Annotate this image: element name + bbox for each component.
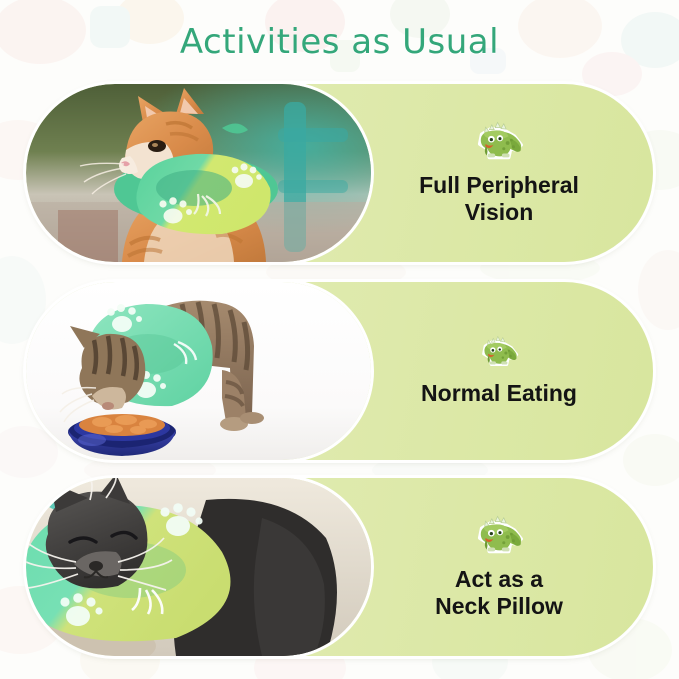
photo-cat-eating-from-bowl [26, 282, 371, 460]
infographic-stage: Activities as Usual [0, 0, 679, 679]
feature-caption-1: Full Peripheral Vision [419, 172, 579, 226]
triceratops-dinosaur-icon [470, 514, 528, 560]
feature-info-3: Act as a Neck Pillow [371, 478, 653, 656]
feature-info-1: Full Peripheral Vision [371, 84, 653, 262]
feature-caption-3: Act as a Neck Pillow [435, 566, 563, 620]
page-title: Activities as Usual [0, 22, 679, 62]
photo-gray-cat-sleeping-on-collar [26, 478, 371, 656]
feature-panel-act-as-a-neck-pillow: Act as a Neck Pillow [26, 478, 653, 656]
triceratops-dinosaur-icon [476, 334, 522, 372]
triceratops-dinosaur-icon [470, 120, 528, 166]
feature-panel-full-peripheral-vision: Full Peripheral Vision [26, 84, 653, 262]
feature-info-2: Normal Eating [371, 282, 653, 460]
photo-orange-cat-with-collar [26, 84, 371, 262]
feature-caption-2: Normal Eating [421, 380, 577, 407]
feature-panel-normal-eating: Normal Eating [26, 282, 653, 460]
